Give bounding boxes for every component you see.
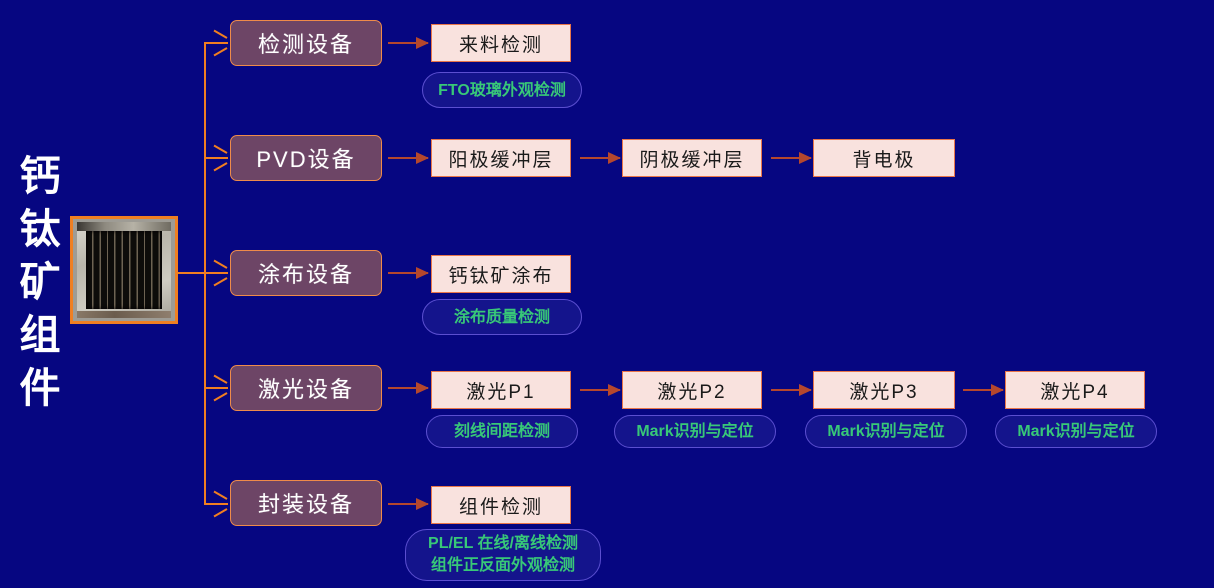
- arrow-row-2-step-1-to-2: [580, 157, 620, 159]
- equipment-box-row-5[interactable]: 封装设备: [230, 480, 382, 526]
- inspection-label: Mark识别与定位: [1017, 421, 1134, 442]
- inspection-pill-row-4-3: Mark识别与定位: [805, 415, 967, 448]
- equipment-box-row-3[interactable]: 涂布设备: [230, 250, 382, 296]
- equipment-box-row-1[interactable]: 检测设备: [230, 20, 382, 66]
- process-box-row-4-step-2[interactable]: 激光P2: [622, 371, 762, 409]
- process-box-row-4-step-1[interactable]: 激光P1: [431, 371, 571, 409]
- photo-cell-stripes: [86, 231, 162, 309]
- arrow-row-5-to-step-1: [388, 503, 428, 505]
- chevron-arrow-icon-4: [212, 379, 230, 397]
- process-box-row-2-step-2[interactable]: 阴极缓冲层: [622, 139, 762, 177]
- inspection-label-line-2: 组件正反面外观检测: [431, 555, 575, 577]
- arrow-row-3-to-step-1: [388, 272, 428, 274]
- flow-diagram-canvas: 钙 钛 矿 组 件 检测设备 来料检测 FTO玻璃外观检测 PVD设备 阳极缓冲…: [0, 0, 1214, 588]
- page-title: 钙 钛 矿 组 件: [10, 150, 70, 415]
- process-box-row-1-step-1[interactable]: 来料检测: [431, 24, 571, 62]
- connector-photo-to-trunk: [178, 272, 206, 274]
- inspection-pill-row-3-1: 涂布质量检测: [422, 299, 582, 335]
- inspection-label: Mark识别与定位: [827, 421, 944, 442]
- inspection-pill-row-1-1: FTO玻璃外观检测: [422, 72, 582, 108]
- process-box-row-2-step-3[interactable]: 背电极: [813, 139, 955, 177]
- inspection-pill-row-4-2: Mark识别与定位: [614, 415, 776, 448]
- inspection-label: FTO玻璃外观检测: [438, 80, 566, 101]
- photo-bottom-edge: [77, 311, 171, 318]
- inspection-pill-row-5-1: PL/EL 在线/离线检测 组件正反面外观检测: [405, 529, 601, 581]
- equipment-box-row-2[interactable]: PVD设备: [230, 135, 382, 181]
- inspection-pill-row-4-4: Mark识别与定位: [995, 415, 1157, 448]
- arrow-row-4-to-step-1: [388, 387, 428, 389]
- chevron-arrow-icon-1: [212, 34, 230, 52]
- inspection-label: 涂布质量检测: [454, 307, 550, 328]
- inspection-label: Mark识别与定位: [636, 421, 753, 442]
- chevron-arrow-icon-2: [212, 149, 230, 167]
- process-box-row-4-step-3[interactable]: 激光P3: [813, 371, 955, 409]
- arrow-row-4-step-1-to-2: [580, 389, 620, 391]
- inspection-pill-row-4-1: 刻线间距检测: [426, 415, 578, 448]
- arrow-row-2-step-2-to-3: [771, 157, 811, 159]
- perovskite-module-photo: [70, 216, 178, 324]
- inspection-label-line-1: PL/EL 在线/离线检测: [428, 533, 578, 555]
- chevron-arrow-icon-3: [212, 264, 230, 282]
- process-box-row-4-step-4[interactable]: 激光P4: [1005, 371, 1145, 409]
- chevron-arrow-icon-5: [212, 495, 230, 513]
- arrow-row-1-to-step-1: [388, 42, 428, 44]
- equipment-box-row-4[interactable]: 激光设备: [230, 365, 382, 411]
- process-box-row-2-step-1[interactable]: 阳极缓冲层: [431, 139, 571, 177]
- arrow-row-2-to-step-1: [388, 157, 428, 159]
- arrow-row-4-step-3-to-4: [963, 389, 1003, 391]
- arrow-row-4-step-2-to-3: [771, 389, 811, 391]
- inspection-label: 刻线间距检测: [454, 421, 550, 442]
- process-box-row-3-step-1[interactable]: 钙钛矿涂布: [431, 255, 571, 293]
- photo-top-edge: [77, 222, 171, 231]
- process-box-row-5-step-1[interactable]: 组件检测: [431, 486, 571, 524]
